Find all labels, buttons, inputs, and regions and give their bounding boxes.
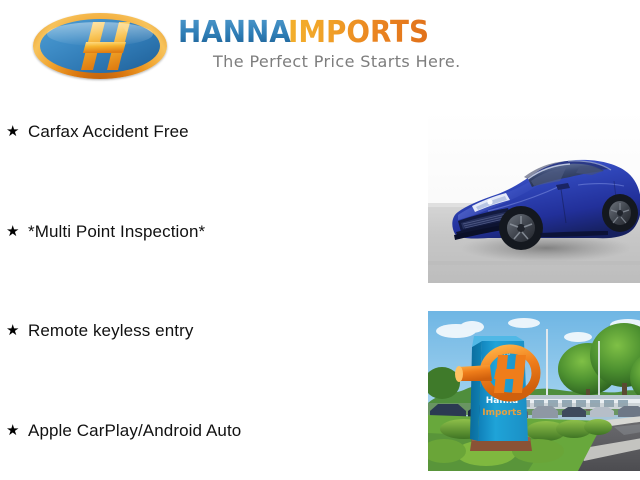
feature-label: *Multi Point Inspection* — [28, 219, 205, 245]
feature-label: Apple CarPlay/Android Auto — [28, 418, 241, 444]
star-bullet-icon: ★ — [6, 318, 28, 344]
list-item: ★ Carfax Accident Free — [6, 119, 189, 145]
dealership-photo-image: 240 Hanna Imports — [428, 311, 640, 471]
brand-name-primary: HANNA — [178, 18, 291, 48]
vehicle-photo[interactable] — [428, 111, 640, 283]
list-item: ★ Remote keyless entry — [6, 318, 193, 344]
star-bullet-icon: ★ — [6, 119, 28, 145]
brand-tagline: The Perfect Price Starts Here. — [213, 52, 461, 71]
star-bullet-icon: ★ — [6, 219, 28, 245]
feature-label: Remote keyless entry — [28, 318, 193, 344]
list-item: ★ Apple CarPlay/Android Auto — [6, 418, 241, 444]
logo-h-letter-icon — [33, 13, 167, 79]
dealership-photo[interactable]: 240 Hanna Imports — [428, 311, 640, 471]
brand-wordmark: HANNAIMPORTS — [178, 18, 424, 50]
star-bullet-icon: ★ — [6, 418, 28, 444]
svg-text:Imports: Imports — [482, 408, 521, 418]
brand-header: HANNAIMPORTS The Perfect Price Starts He… — [0, 0, 640, 92]
hanna-h-monogram-icon — [33, 13, 167, 79]
vehicle-features-list: ★ Carfax Accident Free ★ *Multi Point In… — [0, 96, 380, 476]
list-item: ★ *Multi Point Inspection* — [6, 219, 205, 245]
feature-label: Carfax Accident Free — [28, 119, 189, 145]
vehicle-photo-image — [428, 111, 640, 283]
brand-name-secondary: IMPORTS — [288, 18, 429, 48]
